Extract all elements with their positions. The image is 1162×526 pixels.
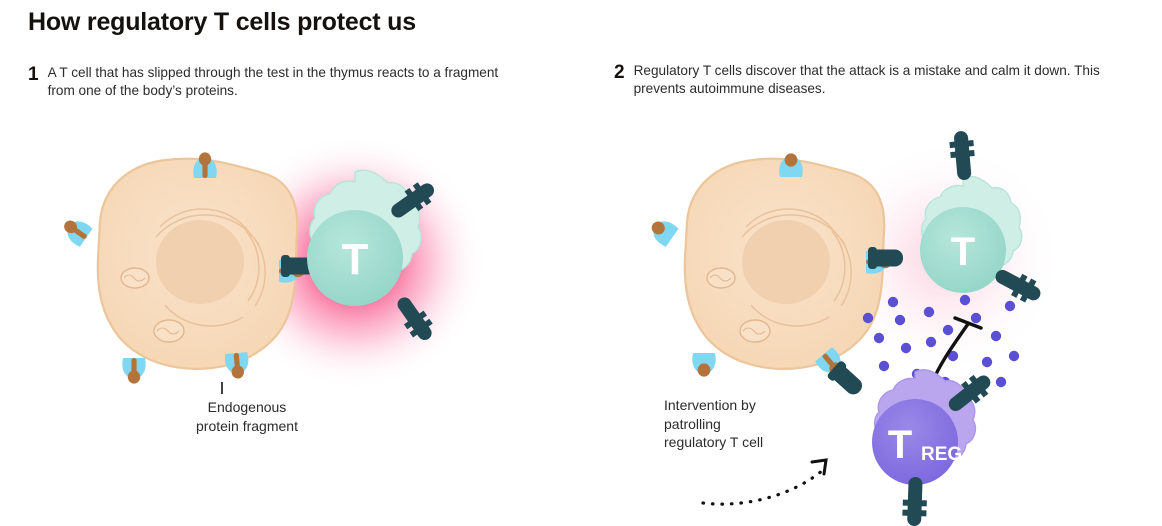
nucleus [156,220,244,304]
treg-nucleus [872,399,958,485]
organelle-mito-1 [707,268,735,288]
tcr-top [949,130,977,181]
step-1: 1 A T cell that has slipped through the … [28,64,518,100]
mhc-peptide-bottom-right [224,352,250,380]
treg-tcr-right [943,369,996,418]
panel-1-illustration: T [59,134,487,394]
callout-intervention: Intervention by patrolling regulatory T … [664,396,834,452]
callout-endogenous-line-1: Endogenous [172,398,322,417]
mhc-peptide-top [193,152,216,178]
tcr-upper-right [386,177,440,225]
body-cell-1 [59,152,298,383]
callout-endogenous-fragment: Endogenous protein fragment [172,398,322,435]
t-cell-1: T [307,170,440,345]
mhc-peptide-top [779,153,802,177]
callout-intervention-line-1: Intervention by [664,396,834,415]
step-2: 2 Regulatory T cells discover that the a… [614,62,1104,98]
inflammation-glow-weak [827,140,1063,376]
inflammation-glow [223,134,487,390]
immune-synapse-1 [279,255,316,283]
mhc-peptide-left [59,213,93,247]
t-cell-label: T [342,235,369,284]
inhibition-arrow [931,318,981,386]
step-1-number: 1 [28,64,39,86]
tcr-right [991,263,1046,307]
immune-synapse-treg [815,347,867,400]
t-cell-nucleus [920,207,1006,293]
treg-label-sub: REG [921,444,962,465]
tcr-lower-right [391,292,439,346]
t-cell-nucleus [307,210,403,306]
organelle-er [156,209,265,326]
cytokine-dots [863,295,1019,387]
callout-endogenous-line-2: protein fragment [172,417,322,436]
immune-synapse-2 [866,247,903,274]
dotted-arrow [703,460,826,504]
treg-tcr-bottom [902,477,928,526]
organelle-er [742,209,851,326]
panel-2-illustration: T [646,130,1063,526]
treg-cell: T REG [872,369,996,526]
treg-label-main: T [888,423,912,467]
mhc-peptide-bottom-left [692,353,715,377]
organelle-mito-2 [154,320,184,342]
figure-root: How regulatory T cells protect us 1 A T … [0,0,1162,526]
step-1-text: A T cell that has slipped through the te… [48,64,518,100]
figure-title: How regulatory T cells protect us [28,8,416,37]
organelle-mito-2 [740,320,770,342]
t-cell-label: T [951,230,975,274]
body-cell-2 [646,153,884,376]
callout-intervention-line-3: regulatory T cell [664,433,834,452]
t-cell-2: T [920,130,1045,307]
step-2-number: 2 [614,62,625,84]
step-2-text: Regulatory T cells discover that the att… [634,62,1104,98]
t-cell-membrane [922,176,1022,274]
treg-membrane [875,370,976,468]
organelle-mito-1 [121,268,149,288]
callout-intervention-line-2: patrolling [664,415,834,434]
mhc-peptide-bottom-left [122,358,145,384]
t-cell-membrane [310,170,421,280]
nucleus [742,220,830,304]
mhc-peptide-left [646,215,679,248]
